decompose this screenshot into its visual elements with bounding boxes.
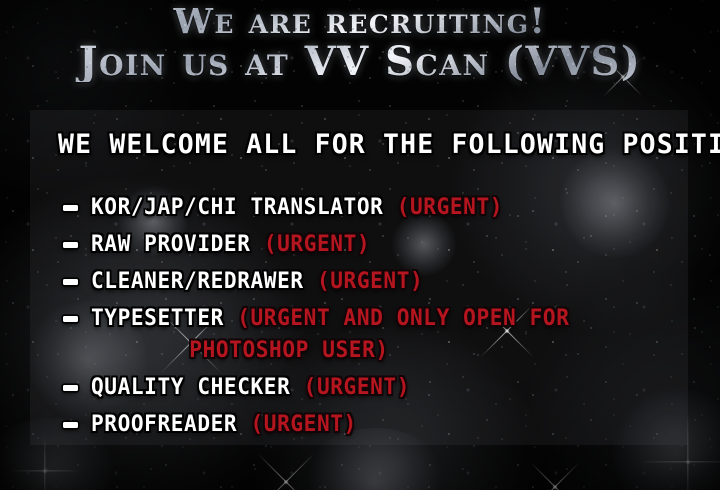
position-note: (URGENT AND ONLY OPEN FOR (237, 306, 569, 331)
position-text: QUALITY CHECKER (URGENT) (91, 372, 410, 404)
list-item: QUALITY CHECKER (URGENT) (58, 372, 686, 404)
section-heading: WE WELCOME ALL FOR THE FOLLOWING POSITIO… (58, 129, 720, 160)
headline-line-2: Join us at VV Scan (VVS) (0, 42, 720, 82)
positions-list: KOR/JAP/CHI TRANSLATOR (URGENT) RAW PROV… (58, 192, 686, 446)
list-item: PROOFREADER (URGENT) (58, 409, 686, 441)
position-text: PROOFREADER (URGENT) (91, 409, 357, 441)
dash-bullet-icon (63, 422, 78, 428)
dash-bullet-icon (63, 205, 78, 211)
headline-line-1: We are recruiting! (0, 4, 720, 39)
position-note-wrap: PHOTOSHOP USER) (91, 335, 570, 367)
position-role: RAW PROVIDER (91, 232, 251, 257)
position-text: KOR/JAP/CHI TRANSLATOR (URGENT) (91, 192, 503, 224)
recruitment-banner: We are recruiting! Join us at VV Scan (V… (0, 0, 720, 490)
position-role: CLEANER/REDRAWER (91, 269, 304, 294)
dash-bullet-icon (63, 242, 78, 248)
position-note: (URGENT) (251, 412, 357, 437)
position-role: QUALITY CHECKER (91, 375, 290, 400)
list-item: TYPESETTER (URGENT AND ONLY OPEN FORPHOT… (58, 303, 686, 367)
position-note: (URGENT) (317, 269, 423, 294)
position-role: TYPESETTER (91, 306, 224, 331)
position-note: (URGENT) (304, 375, 410, 400)
headline-block: We are recruiting! Join us at VV Scan (V… (0, 4, 720, 82)
position-note: (URGENT) (397, 195, 503, 220)
list-item: CLEANER/REDRAWER (URGENT) (58, 266, 686, 298)
list-item: RAW PROVIDER (URGENT) (58, 229, 686, 261)
position-role: PROOFREADER (91, 412, 237, 437)
list-item: KOR/JAP/CHI TRANSLATOR (URGENT) (58, 192, 686, 224)
position-text: RAW PROVIDER (URGENT) (91, 229, 370, 261)
position-role: KOR/JAP/CHI TRANSLATOR (91, 195, 383, 220)
position-text: CLEANER/REDRAWER (URGENT) (91, 266, 423, 298)
position-text: TYPESETTER (URGENT AND ONLY OPEN FORPHOT… (91, 303, 570, 367)
dash-bullet-icon (63, 279, 78, 285)
position-note: (URGENT) (264, 232, 370, 257)
dash-bullet-icon (63, 385, 78, 391)
dash-bullet-icon (63, 316, 78, 322)
